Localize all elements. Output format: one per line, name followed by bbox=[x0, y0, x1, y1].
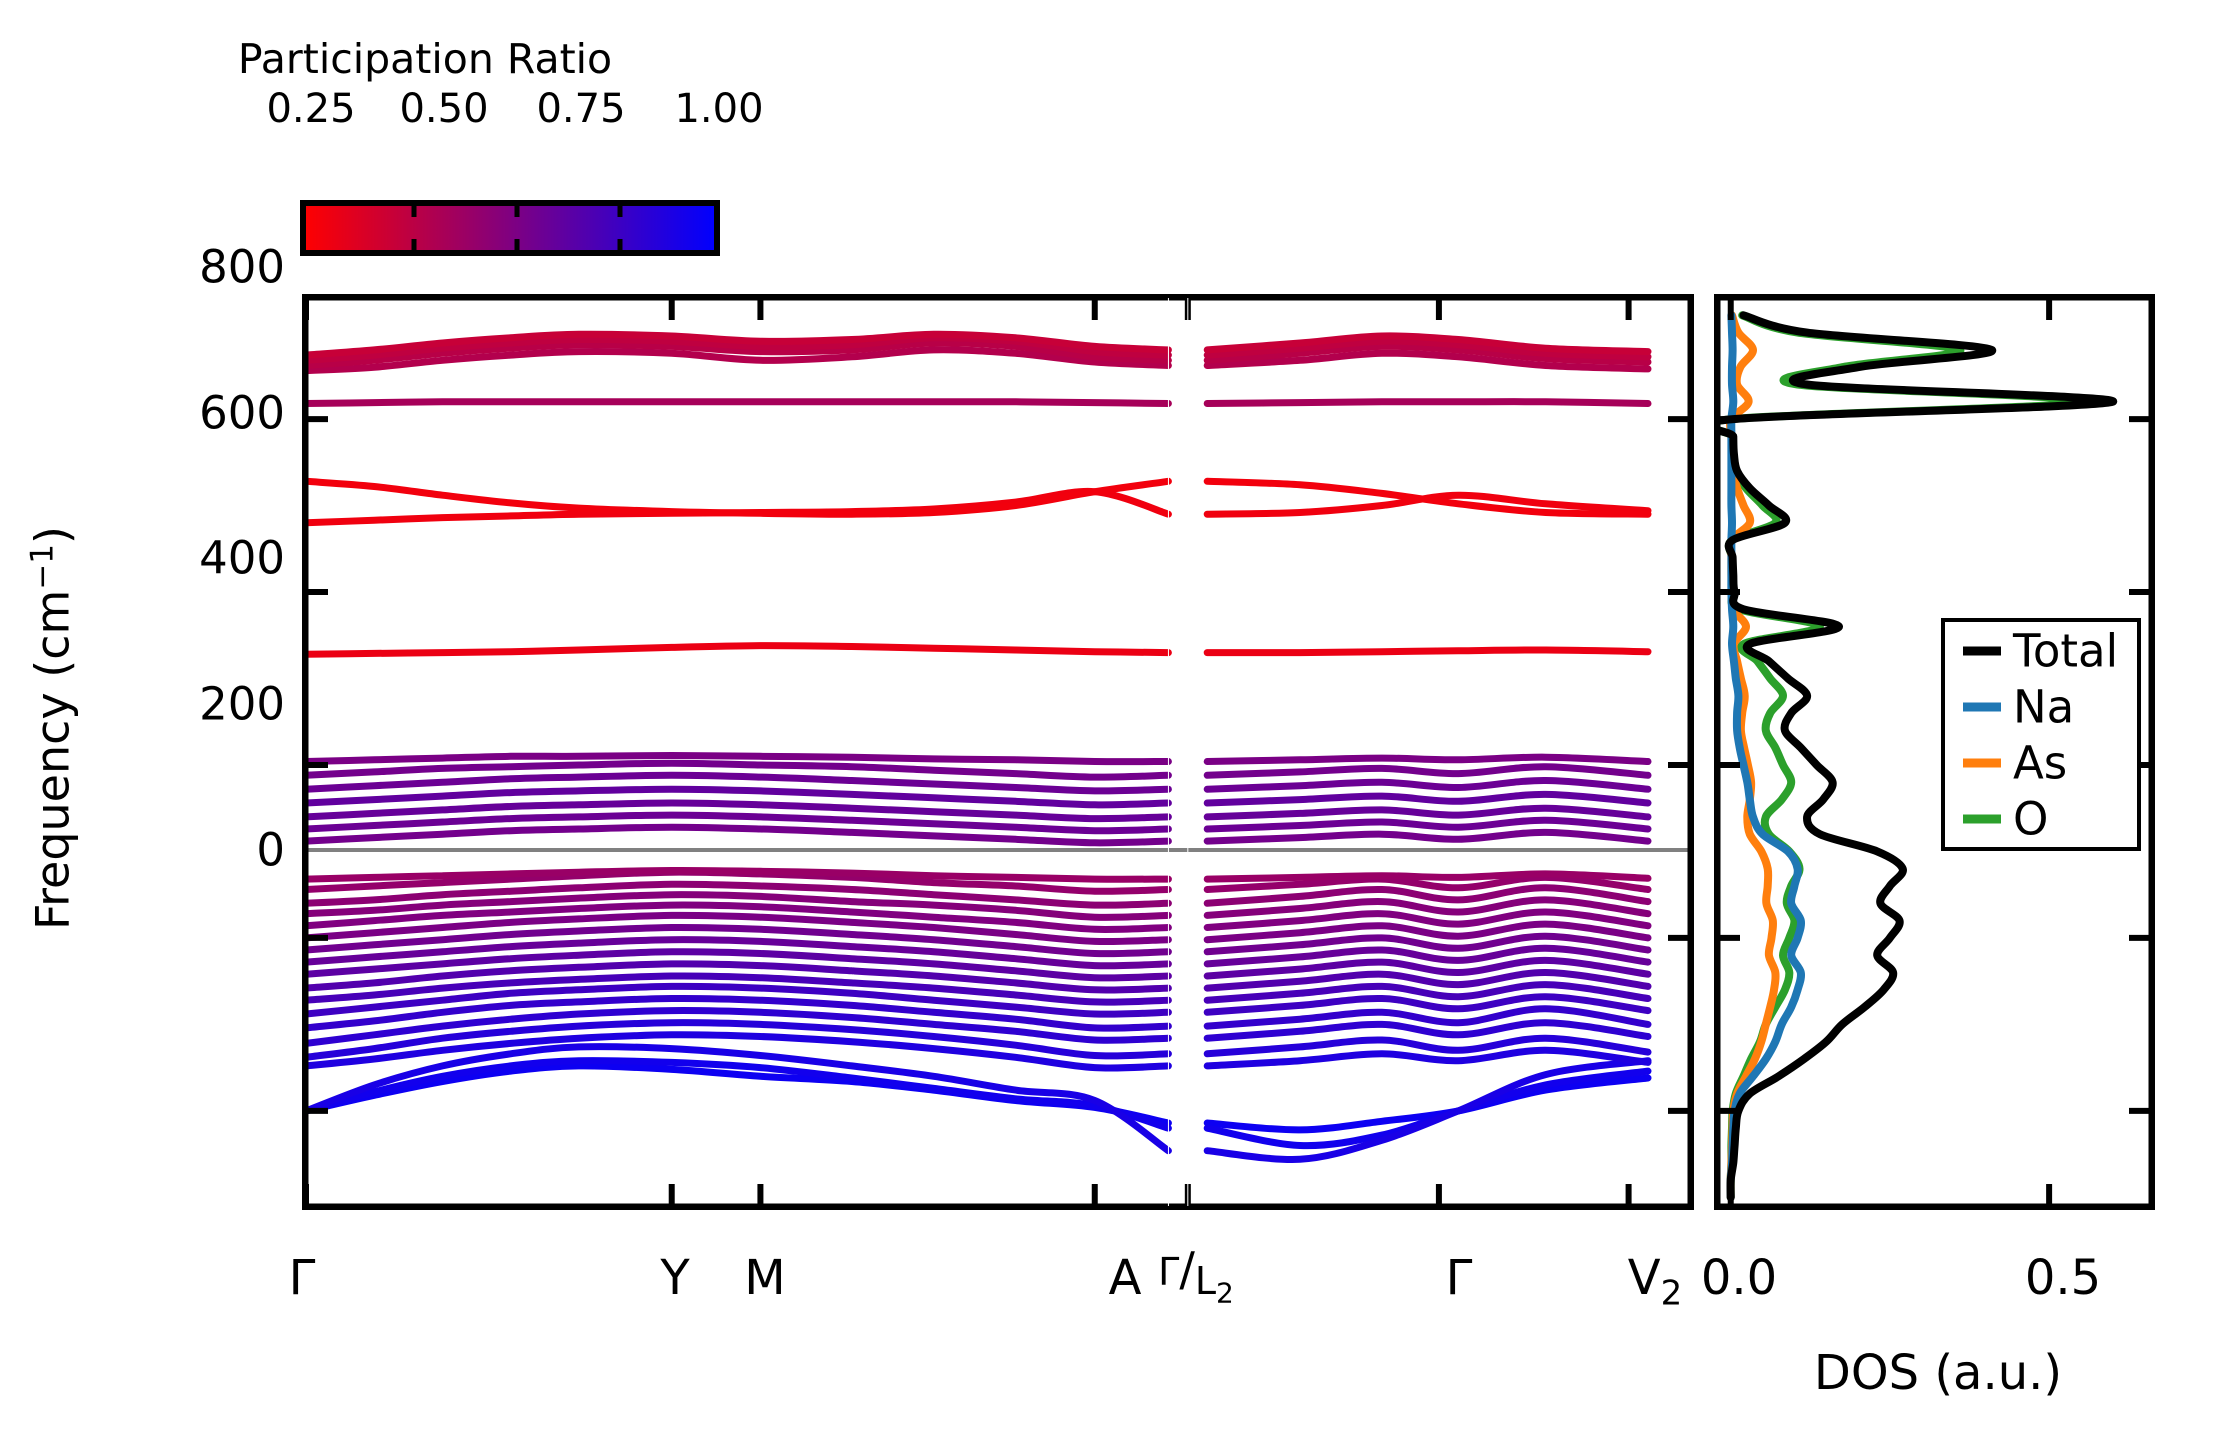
colorbar-tick-label-0: 0.25 bbox=[266, 86, 355, 132]
colorbar-tick-label-1: 0.50 bbox=[399, 86, 488, 132]
colorbar-title: Participation Ratio bbox=[238, 35, 612, 83]
colorbar-swatch[interactable] bbox=[300, 200, 720, 256]
xtick-label-gamma-2: Γ bbox=[1446, 1250, 1473, 1306]
xtick-label-Y: Y bbox=[660, 1250, 689, 1306]
legend-label-o: O bbox=[2013, 793, 2048, 846]
xtick-label-V2: V2 bbox=[1628, 1250, 1682, 1314]
legend-label-na: Na bbox=[2013, 681, 2074, 734]
colorbar-tick-label-2: 0.75 bbox=[536, 86, 625, 132]
y-tick-label-600: 600 bbox=[199, 387, 285, 440]
band-curve bbox=[306, 402, 1168, 404]
xtick-label-M: M bbox=[744, 1250, 785, 1306]
y-tick-label-0: 0 bbox=[256, 824, 285, 877]
xtick-label-gamma-L2: Γ/L2 bbox=[1158, 1242, 1234, 1309]
dos-legend[interactable]: Total Na As O bbox=[1941, 618, 2141, 851]
phonon-figure: Participation Ratio 0.25 0.50 0.75 1.00 … bbox=[0, 0, 2222, 1455]
dos-axis-label: DOS (a.u.) bbox=[1814, 1345, 2062, 1401]
y-axis-label: Frequency (cm−1) bbox=[24, 526, 79, 930]
y-tick-label-400: 400 bbox=[199, 532, 285, 585]
band-curve bbox=[1207, 757, 1648, 761]
legend-label-total: Total bbox=[2013, 625, 2118, 678]
legend-label-as: As bbox=[2013, 737, 2067, 790]
band-curve bbox=[1207, 402, 1648, 404]
dos-xtick-label-1: 0.5 bbox=[2025, 1250, 2101, 1306]
band-curve bbox=[1207, 650, 1648, 653]
xtick-label-A: A bbox=[1109, 1250, 1142, 1306]
dos-xtick-label-0: 0.0 bbox=[1701, 1250, 1777, 1306]
y-axis-label-paren: ) bbox=[26, 526, 80, 544]
xtick-label-gamma-1: Γ bbox=[289, 1250, 316, 1306]
y-axis-label-text: Frequency (cm bbox=[26, 590, 80, 930]
band-structure-panel[interactable] bbox=[302, 294, 1694, 1210]
colorbar-tick-label-3: 1.00 bbox=[674, 86, 763, 132]
y-tick-label-200: 200 bbox=[199, 678, 285, 731]
band-curve bbox=[1207, 874, 1648, 879]
y-tick-label-800: 800 bbox=[199, 241, 285, 294]
y-axis-label-exponent: −1 bbox=[24, 544, 60, 590]
